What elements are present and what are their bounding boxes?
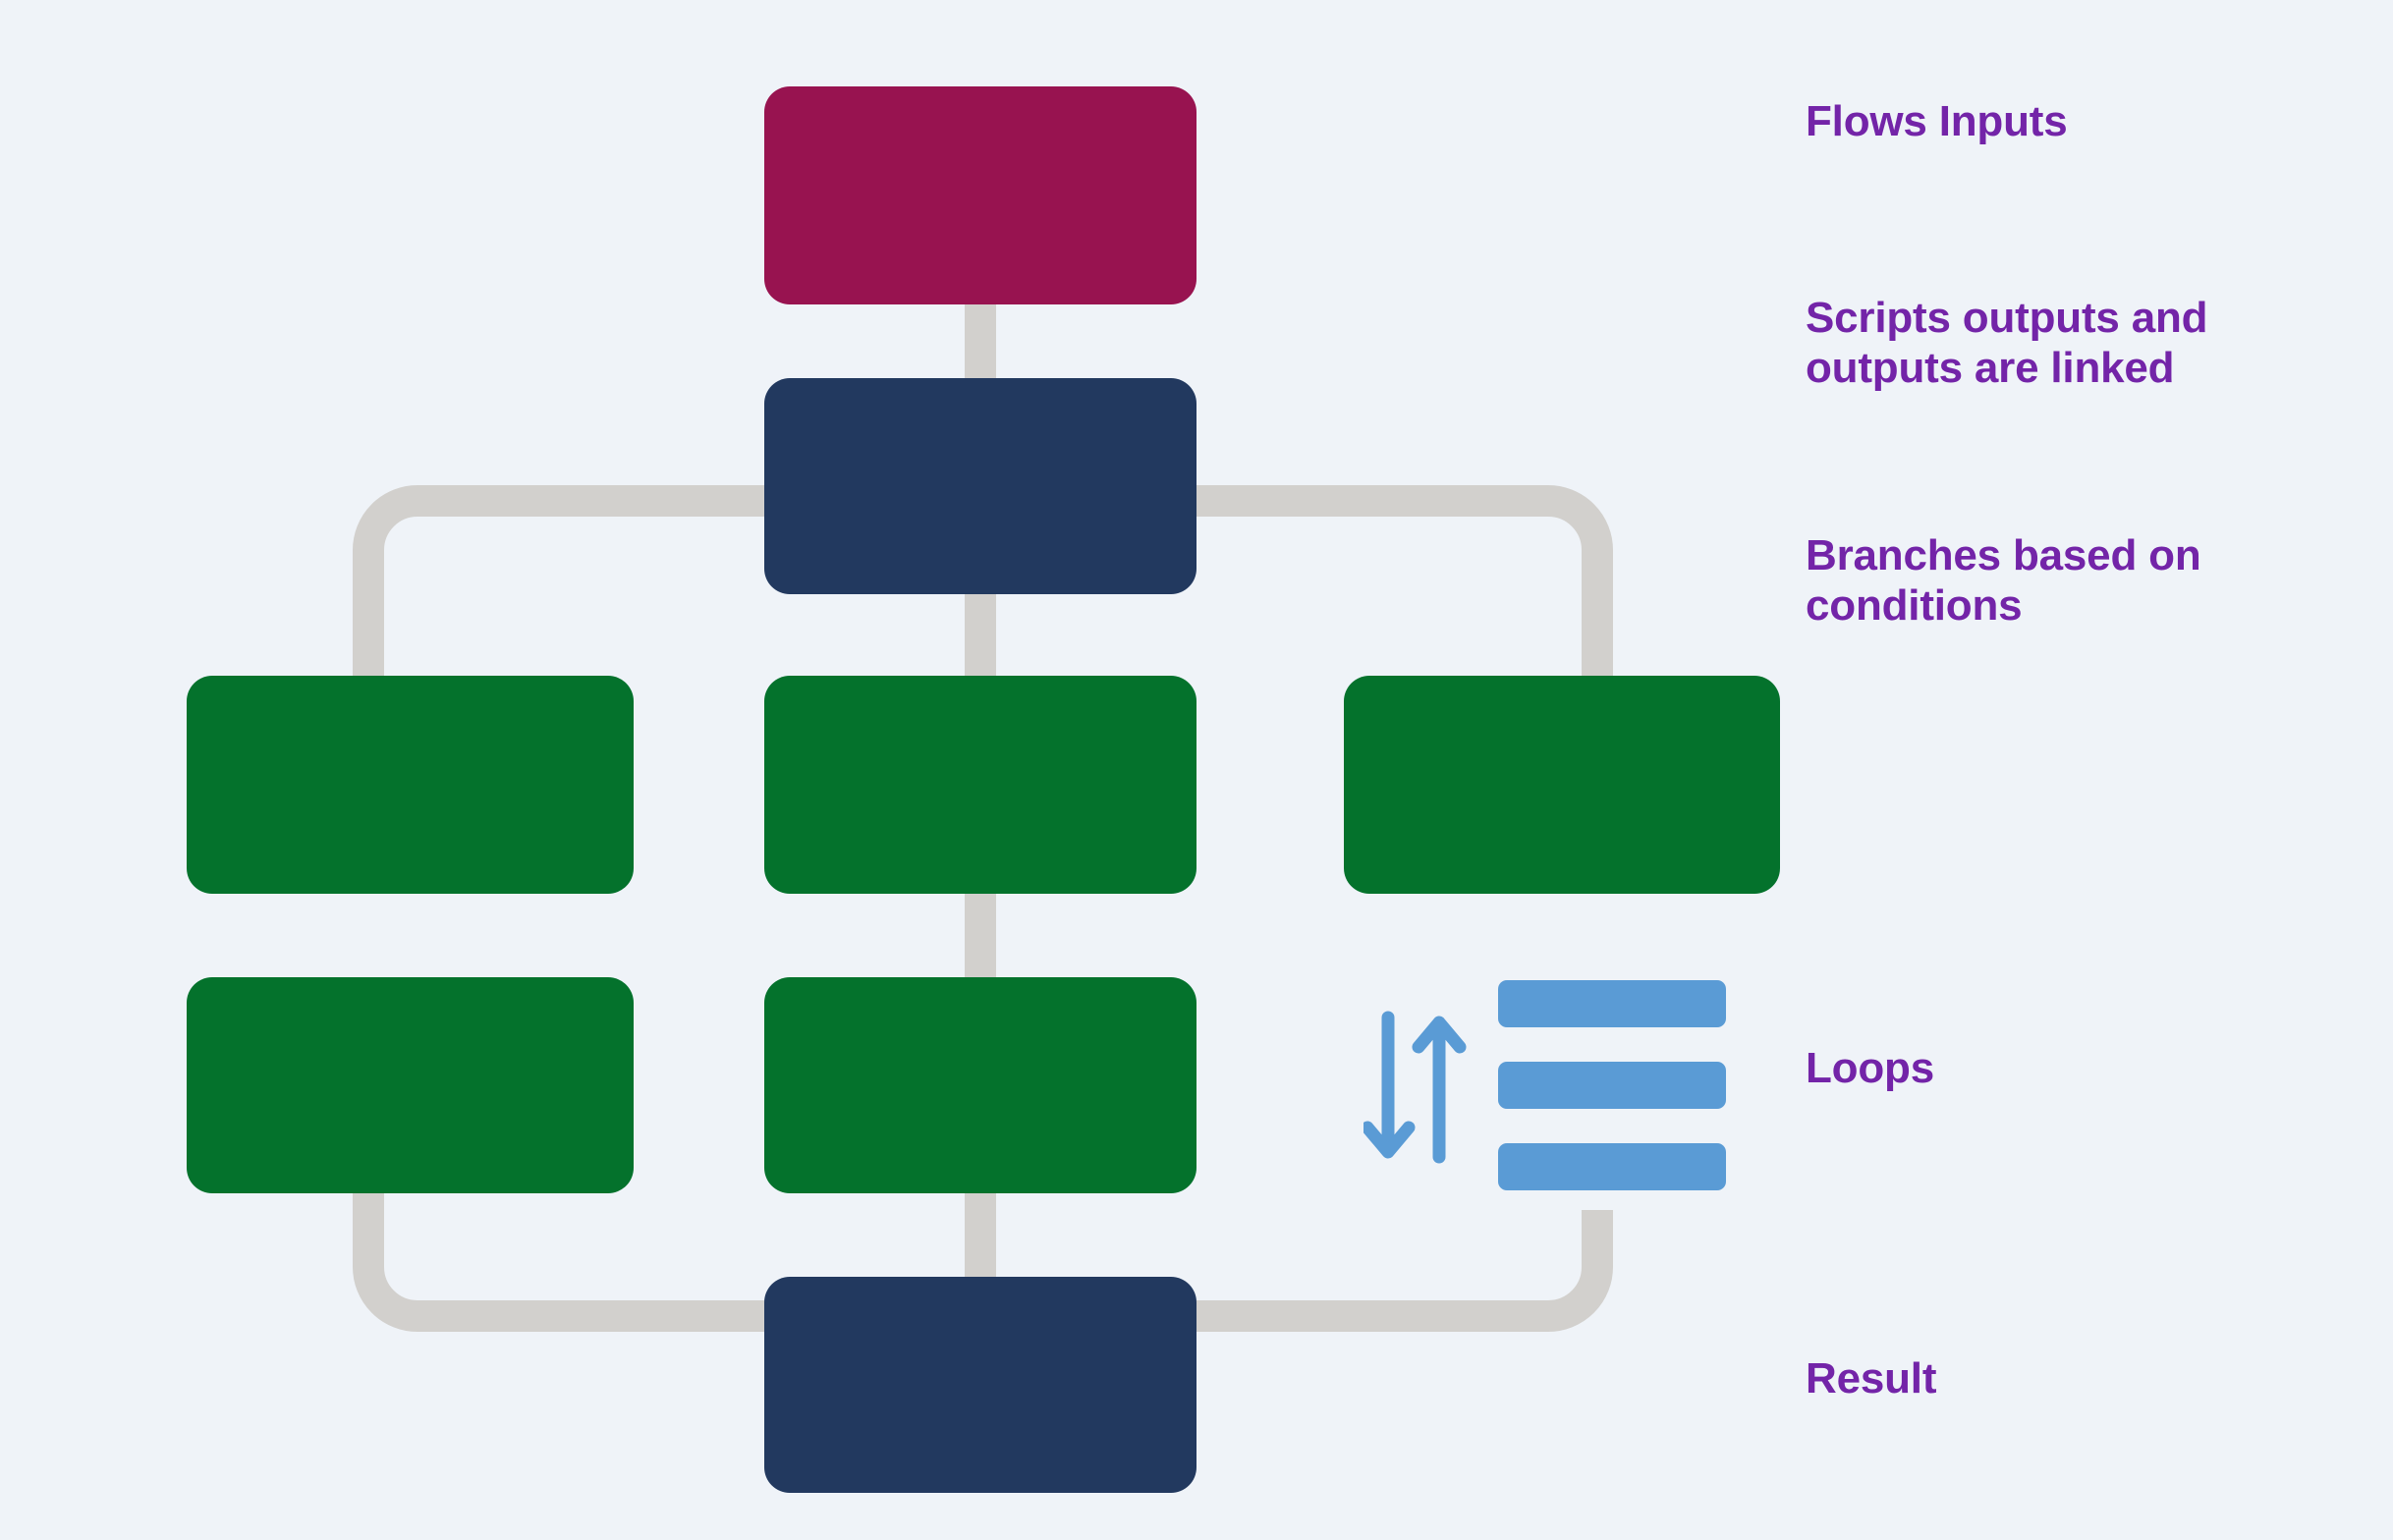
connector-loop-to-result bbox=[1187, 1210, 1597, 1316]
diagram-canvas: Flows Inputs Scripts outputs and outputs… bbox=[0, 0, 2393, 1540]
node-branch-mid-2[interactable] bbox=[764, 977, 1196, 1193]
loop-bar-3[interactable] bbox=[1498, 1143, 1726, 1190]
loop-bar-1[interactable] bbox=[1498, 980, 1726, 1027]
node-branch-left-1[interactable] bbox=[187, 676, 634, 894]
connector-script-to-branch-right bbox=[1187, 501, 1597, 687]
node-branch-mid-1[interactable] bbox=[764, 676, 1196, 894]
connector-branch-left2-to-result bbox=[368, 1183, 774, 1316]
label-scripts-outputs-linked: Scripts outputs and outputs are linked bbox=[1806, 293, 2207, 394]
label-branches-conditions: Branches based on conditions bbox=[1806, 530, 2201, 632]
label-loops: Loops bbox=[1806, 1043, 1934, 1093]
connector-script-to-branch-left bbox=[368, 501, 774, 687]
loop-bar-2[interactable] bbox=[1498, 1062, 1726, 1109]
node-branch-left-2[interactable] bbox=[187, 977, 634, 1193]
node-branch-right-1[interactable] bbox=[1344, 676, 1780, 894]
down-arrow bbox=[1367, 1017, 1409, 1152]
node-flow-input[interactable] bbox=[764, 86, 1196, 304]
node-script-top[interactable] bbox=[764, 378, 1196, 594]
up-arrow bbox=[1419, 1022, 1460, 1157]
label-result: Result bbox=[1806, 1353, 1936, 1403]
loop-arrows-icon bbox=[1363, 1004, 1491, 1171]
node-result[interactable] bbox=[764, 1277, 1196, 1493]
label-flows-inputs: Flows Inputs bbox=[1806, 96, 2067, 146]
